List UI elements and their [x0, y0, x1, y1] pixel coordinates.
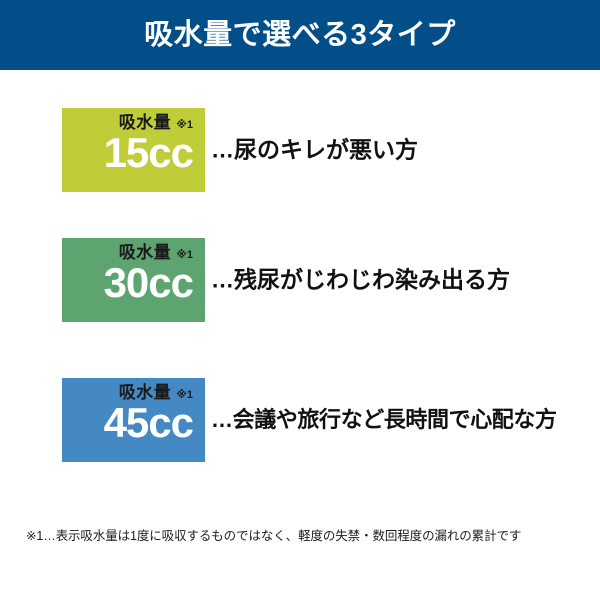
header-band: 吸水量で選べる3タイプ [0, 0, 600, 70]
absorption-badge-45cc: 吸水量 ※1 45cc [62, 378, 205, 462]
absorption-badge-30cc: 吸水量 ※1 30cc [62, 238, 205, 322]
infographic-page: 吸水量で選べる3タイプ 吸水量 ※1 15cc …尿のキレが悪い方 吸水量 ※1… [0, 0, 600, 600]
absorption-type-list: 吸水量 ※1 15cc …尿のキレが悪い方 吸水量 ※1 30cc …残尿がじわ… [0, 70, 600, 510]
list-item: 吸水量 ※1 15cc …尿のキレが悪い方 [0, 108, 600, 192]
list-item: 吸水量 ※1 45cc …会議や旅行など長時間で心配な方 [0, 378, 600, 462]
badge-value: 30cc [104, 263, 193, 303]
page-title: 吸水量で選べる3タイプ [144, 21, 456, 50]
badge-value: 15cc [104, 133, 193, 173]
row-description: …尿のキレが悪い方 [211, 137, 418, 162]
footnote-text: ※1…表示吸水量は1度に吸収するものではなく、軽度の失禁・数回程度の漏れの累計で… [26, 528, 578, 544]
badge-value: 45cc [104, 403, 193, 443]
absorption-badge-15cc: 吸水量 ※1 15cc [62, 108, 205, 192]
row-description: …残尿がじわじわ染み出る方 [211, 267, 510, 292]
row-description: …会議や旅行など長時間で心配な方 [211, 408, 557, 432]
list-item: 吸水量 ※1 30cc …残尿がじわじわ染み出る方 [0, 238, 600, 322]
